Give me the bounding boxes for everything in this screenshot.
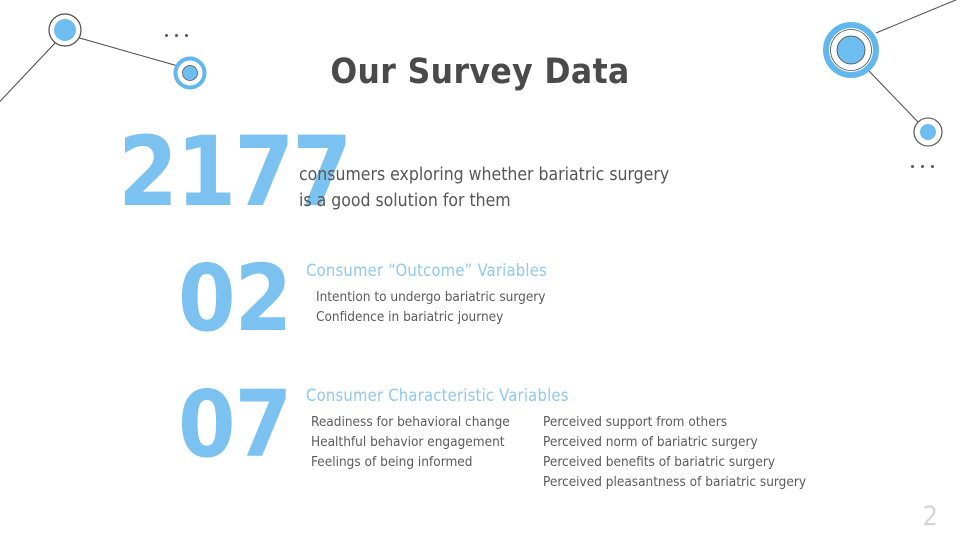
slide-canvas: Our Survey Data 2177 consumers exploring… <box>0 0 960 540</box>
characteristic-variable-list-right: Perceived support from others Perceived … <box>543 412 806 492</box>
page-number: 2 <box>923 501 938 532</box>
stat-description-sample: consumers exploring whether bariatric su… <box>299 162 669 214</box>
ellipsis-dots-left <box>165 34 188 37</box>
dot <box>175 34 178 37</box>
node-outer-ring <box>914 118 942 146</box>
outcome-variable-list: Intention to undergo bariatric surgery C… <box>316 287 545 327</box>
connector-line <box>876 0 960 33</box>
ellipsis-dots-right <box>911 165 934 168</box>
network-nodes-top-right <box>780 0 960 200</box>
list-item: Readiness for behavioral change <box>311 412 510 432</box>
stat-number-characteristic: 07 <box>178 379 291 471</box>
dot <box>921 165 924 168</box>
list-item: Perceived support from others <box>543 412 806 432</box>
node-outer-ring <box>49 14 81 46</box>
list-item: Healthful behavior engagement <box>311 432 510 452</box>
list-item: Perceived norm of bariatric surgery <box>543 432 806 452</box>
list-item: Confidence in bariatric journey <box>316 307 545 327</box>
list-item: Perceived benefits of bariatric surgery <box>543 452 806 472</box>
stat-number-outcome: 02 <box>178 253 291 345</box>
section-heading-characteristic: Consumer Characteristic Variables <box>306 386 569 405</box>
dot <box>911 165 914 168</box>
node-core <box>920 124 936 140</box>
characteristic-variable-list-left: Readiness for behavioral change Healthfu… <box>311 412 510 472</box>
list-item: Intention to undergo bariatric surgery <box>316 287 545 307</box>
dot <box>185 34 188 37</box>
slide-title: Our Survey Data <box>0 52 960 92</box>
dot <box>165 34 168 37</box>
dot <box>931 165 934 168</box>
section-heading-outcome: Consumer “Outcome” Variables <box>306 261 547 280</box>
node-core <box>54 19 76 41</box>
list-item: Perceived pleasantness of bariatric surg… <box>543 472 806 492</box>
list-item: Feelings of being informed <box>311 452 510 472</box>
